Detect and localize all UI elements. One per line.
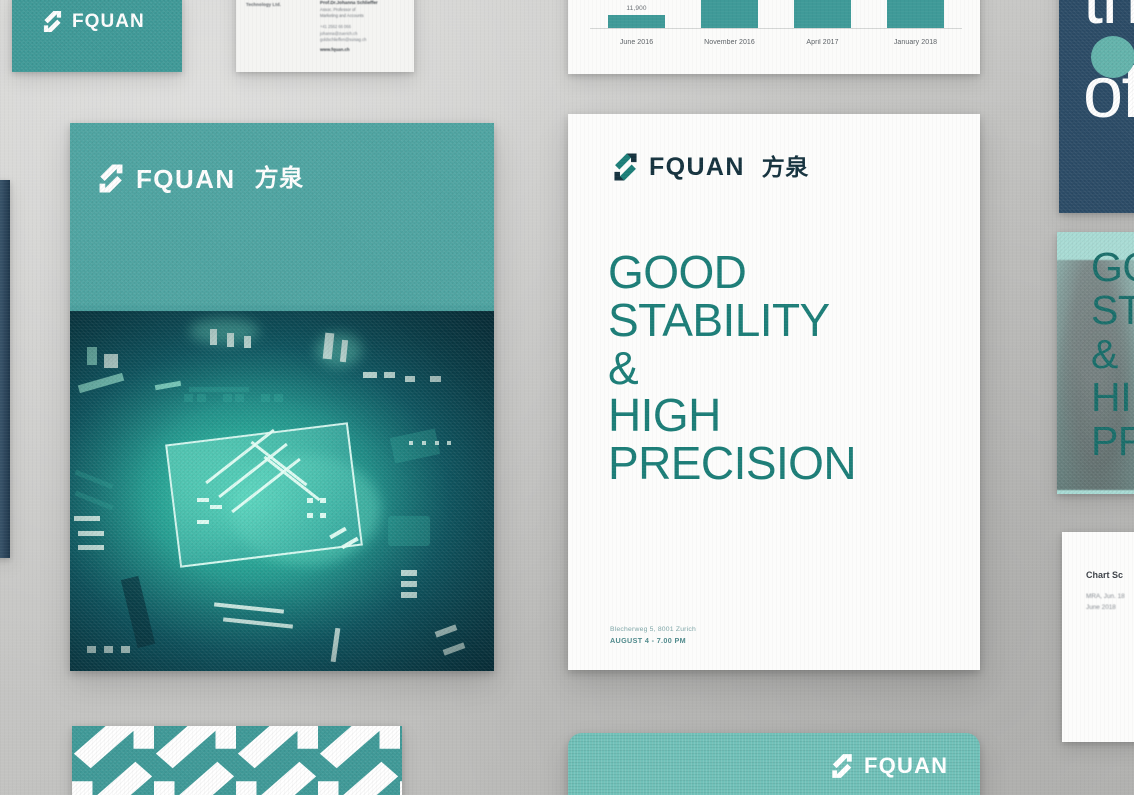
teal-poster: GOST&HIPR bbox=[1057, 232, 1134, 494]
logo-wordmark: FQUAN bbox=[136, 166, 236, 192]
logo-lockup: FQUAN bbox=[42, 10, 145, 33]
chart-bar bbox=[701, 0, 759, 28]
chart-bar-group bbox=[776, 0, 869, 28]
chart-category-label: April 2017 bbox=[776, 39, 869, 46]
pattern-motif bbox=[236, 726, 318, 795]
headline-line: STABILITY bbox=[608, 297, 960, 345]
chart-bar bbox=[887, 0, 945, 28]
poster-datetime: AUGUST 4 - 7.00 PM bbox=[610, 636, 696, 645]
logo-lockup: FQUAN 方泉 bbox=[97, 163, 304, 194]
fquan-arrow-mark-icon bbox=[236, 726, 318, 795]
card-website: www.fquan.ch bbox=[320, 47, 404, 52]
card-person-role: Assoc. Professor ofMarketing and Account… bbox=[320, 7, 404, 19]
circuit-board-illustration bbox=[70, 311, 494, 671]
navy-cover-panel: th of bbox=[1059, 0, 1134, 213]
sheet-title: Chart Sc bbox=[1086, 570, 1123, 580]
pattern-strip bbox=[72, 726, 402, 795]
logo-lockup: FQUAN 方泉 bbox=[612, 152, 809, 182]
brochure-cover: FQUAN 方泉 bbox=[70, 123, 494, 671]
fquan-arrow-mark-icon bbox=[72, 726, 154, 795]
teal-circle-accent bbox=[1091, 36, 1134, 78]
headline-line: & bbox=[608, 345, 960, 393]
logo-lockup: FQUAN bbox=[830, 753, 948, 779]
fquan-arrow-mark-icon bbox=[318, 726, 400, 795]
pattern-row bbox=[72, 726, 402, 795]
fquan-arrow-mark-icon bbox=[97, 163, 125, 194]
brochure-header-band bbox=[70, 123, 494, 305]
chart-category-label: November 2016 bbox=[683, 39, 776, 46]
card-company-line: Technology Ltd. bbox=[246, 2, 281, 7]
chart-bar-group: 11,900 bbox=[590, 0, 683, 28]
pattern-motif bbox=[318, 726, 400, 795]
chart-bar bbox=[794, 0, 852, 28]
chart-value-label: 11,900 bbox=[626, 5, 646, 12]
chart-category-label: June 2016 bbox=[590, 39, 683, 46]
logo-wordmark: FQUAN bbox=[649, 155, 745, 180]
headline-line: PR bbox=[1091, 420, 1134, 463]
teal-poster-headline: GOST&HIPR bbox=[1091, 246, 1134, 463]
left-edge-panel bbox=[0, 180, 10, 558]
logo-wordmark: FQUAN bbox=[864, 755, 948, 777]
pattern-motif bbox=[154, 726, 236, 795]
headline-line: & bbox=[1091, 333, 1134, 376]
fabric-swatch: FQUAN bbox=[568, 733, 980, 795]
headline-line: GO bbox=[1091, 246, 1134, 289]
brochure-photo bbox=[70, 311, 494, 671]
fquan-arrow-mark-icon bbox=[154, 726, 236, 795]
headline-line: HI bbox=[1091, 376, 1134, 419]
fquan-arrow-mark-icon bbox=[612, 152, 639, 182]
chart-bar-group bbox=[869, 0, 962, 28]
headline-line: HIGH bbox=[608, 392, 960, 440]
poster-headline: GOODSTABILITY&HIGHPRECISION bbox=[608, 249, 960, 488]
chart-bar-group: 34,000 bbox=[683, 0, 776, 28]
headline-line: GOOD bbox=[608, 249, 960, 297]
headline-line: PRECISION bbox=[608, 440, 960, 488]
photo-vignette bbox=[70, 311, 494, 671]
edge-sheen bbox=[0, 180, 10, 558]
logo-chinese-name: 方泉 bbox=[255, 167, 304, 191]
navy-line-1: th bbox=[1083, 0, 1134, 34]
chart-category-labels: June 2016November 2016April 2017January … bbox=[590, 39, 962, 46]
pattern-motif bbox=[72, 726, 154, 795]
fquan-arrow-mark-icon bbox=[400, 726, 402, 795]
teal-business-card: FQUAN bbox=[12, 0, 182, 72]
headline-line: ST bbox=[1091, 289, 1134, 332]
fquan-arrow-mark-icon bbox=[830, 753, 854, 779]
chart-scale-sheet: Chart Sc MRA, Jun. 18June 2018 bbox=[1062, 532, 1134, 742]
logo-wordmark: FQUAN bbox=[72, 12, 145, 31]
main-poster: FQUAN 方泉 GOODSTABILITY&HIGHPRECISION Ble… bbox=[568, 114, 980, 670]
card-contact-meta: +41 2562 66 066johanna@zuerich.chgoldsch… bbox=[320, 24, 404, 43]
white-business-card: Technology Ltd. Prof.Dr.Johanna Schlieff… bbox=[236, 0, 414, 72]
poster-address: Blecherweg 5, 8001 Zurich bbox=[610, 626, 696, 633]
card-contact-block: Prof.Dr.Johanna Schlieffer Assoc. Profes… bbox=[320, 0, 404, 52]
mockup-canvas: FQUAN Technology Ltd. Prof.Dr.Johanna Sc… bbox=[0, 0, 1134, 795]
pattern-motif bbox=[400, 726, 402, 795]
chart-bar bbox=[608, 15, 666, 28]
sheet-subtitle: MRA, Jun. 18June 2018 bbox=[1086, 592, 1125, 614]
poster-footer: Blecherweg 5, 8001 Zurich AUGUST 4 - 7.0… bbox=[610, 626, 696, 645]
chart-x-axis bbox=[590, 28, 962, 29]
chart-plot-area: 11,90034,000 bbox=[590, 0, 962, 28]
bar-chart: 11,90034,000 June 2016November 2016April… bbox=[590, 0, 962, 50]
card-person-name: Prof.Dr.Johanna Schlieffer bbox=[320, 0, 404, 5]
chart-report-sheet: 11,90034,000 June 2016November 2016April… bbox=[568, 0, 980, 74]
logo-chinese-name: 方泉 bbox=[762, 156, 809, 179]
chart-category-label: January 2018 bbox=[869, 39, 962, 46]
fquan-arrow-mark-icon bbox=[42, 10, 63, 33]
